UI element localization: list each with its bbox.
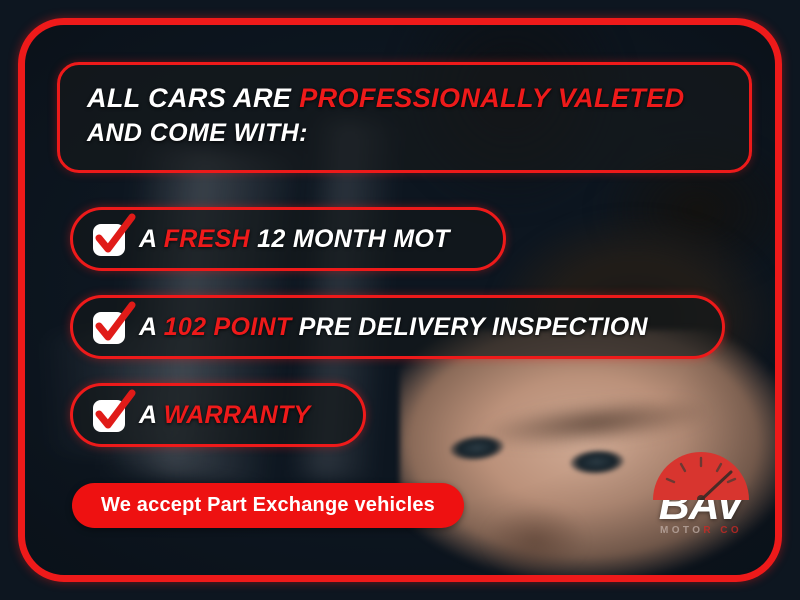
headline-line-1: ALL CARS ARE PROFESSIONALLY VALETED (87, 81, 749, 115)
checkbox-checked-icon (93, 310, 127, 344)
headline-panel: ALL CARS ARE PROFESSIONALLY VALETED AND … (57, 62, 752, 173)
speedometer-gauge-icon (653, 452, 749, 500)
feature-pill-label: A 102 POINT PRE DELIVERY INSPECTION (139, 313, 648, 342)
feature-pill-warranty[interactable]: A WARRANTY (70, 383, 366, 447)
headline-accent-text: PROFESSIONALLY VALETED (299, 83, 684, 113)
checkbox-checked-icon (93, 398, 127, 432)
feature-pill-label: A FRESH 12 MONTH MOT (139, 225, 450, 254)
promo-banner: ALL CARS ARE PROFESSIONALLY VALETED AND … (0, 0, 800, 600)
bav-motor-co-logo: BAV MOTOR CO (640, 452, 762, 556)
headline-plain-text: ALL CARS ARE (87, 83, 299, 113)
part-exchange-button[interactable]: We accept Part Exchange vehicles (72, 483, 464, 528)
feature-pill-inspection[interactable]: A 102 POINT PRE DELIVERY INSPECTION (70, 295, 725, 359)
headline-line-2: AND COME WITH: (87, 119, 749, 148)
feature-pill-mot[interactable]: A FRESH 12 MONTH MOT (70, 207, 506, 271)
checkbox-checked-icon (93, 222, 127, 256)
feature-pill-label: A WARRANTY (139, 401, 311, 430)
